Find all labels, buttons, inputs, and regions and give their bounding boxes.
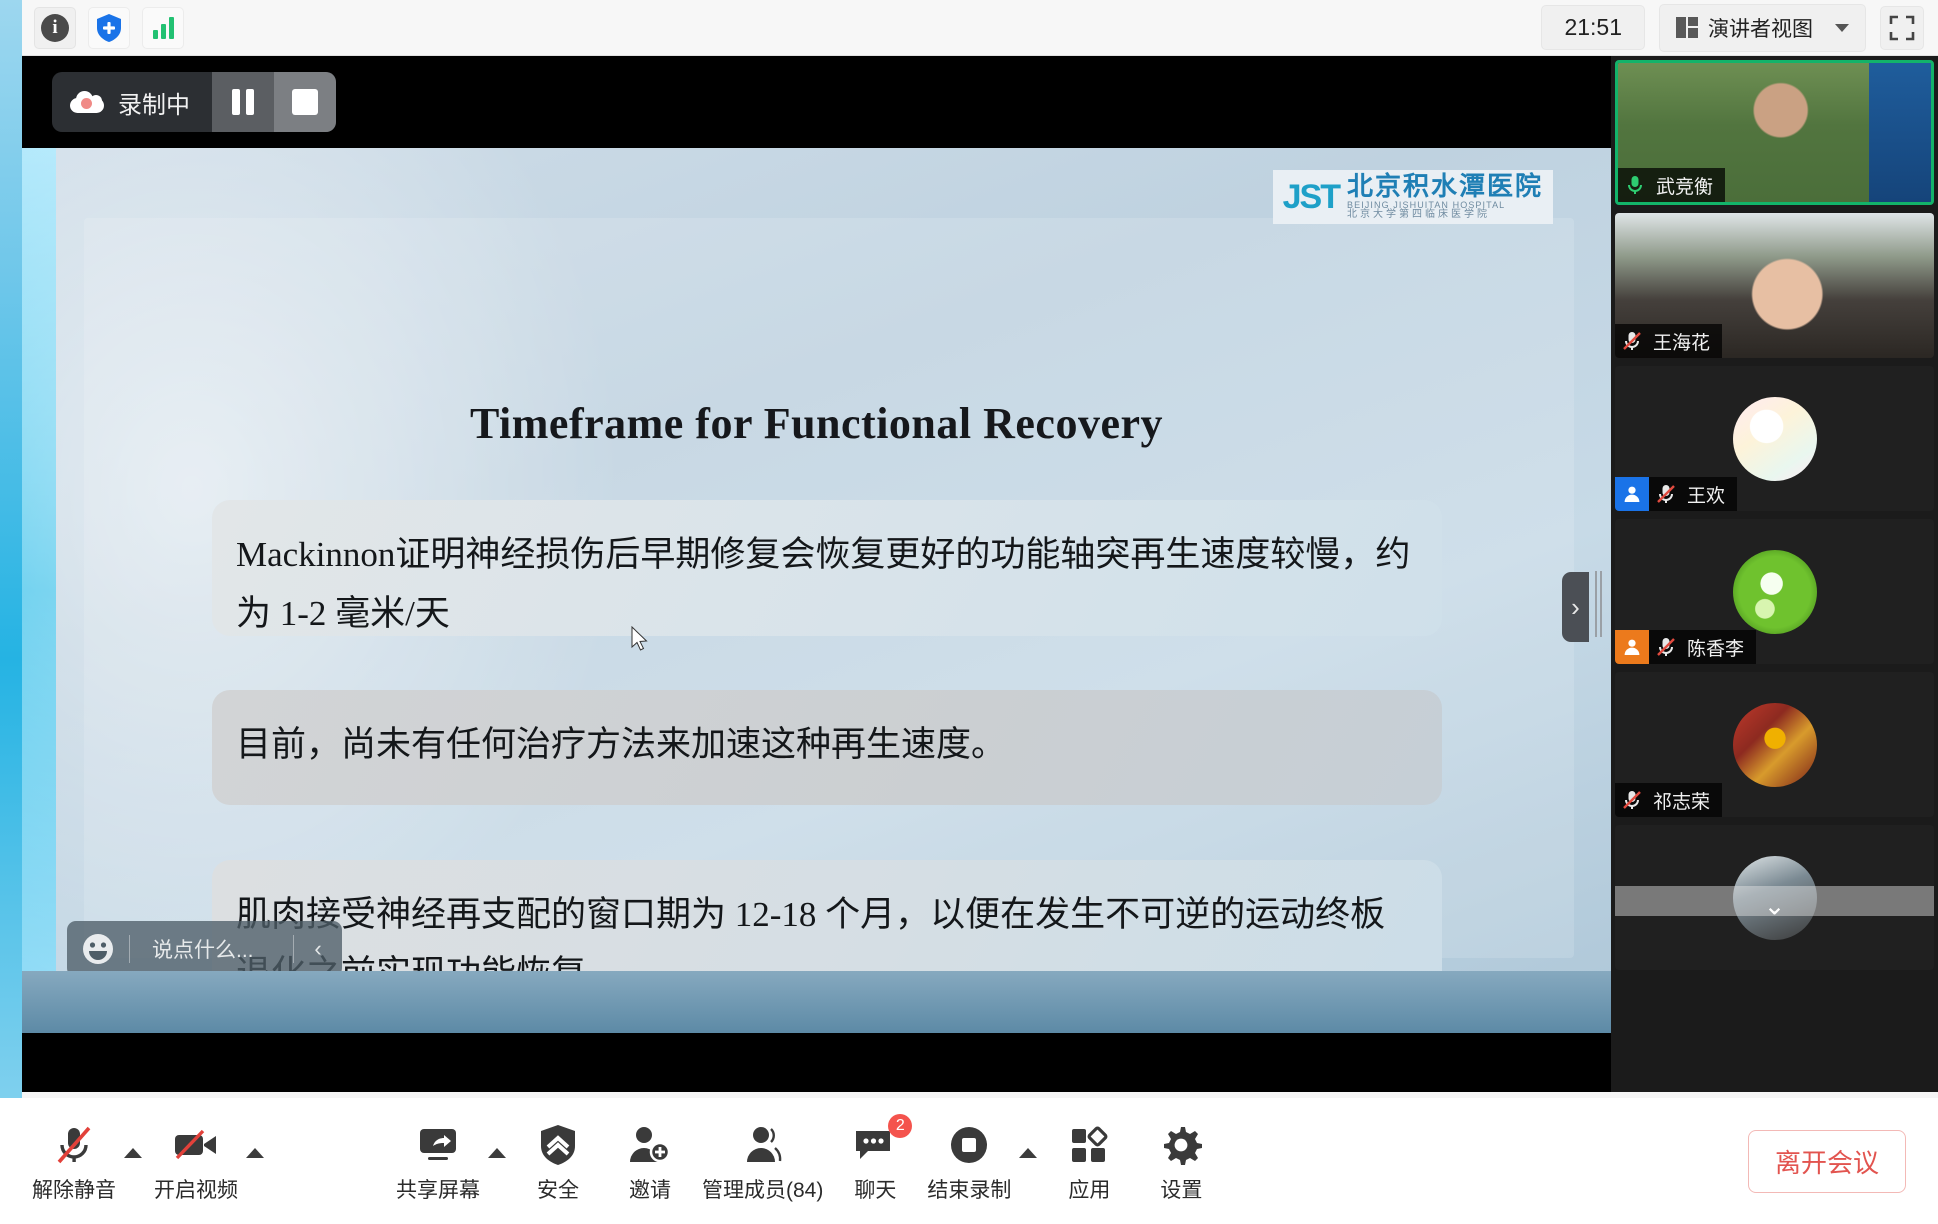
stop-recording-label: 结束录制 [927, 1174, 1011, 1204]
security-shield-button[interactable] [88, 7, 130, 49]
apps-button[interactable]: 应用 [1043, 1118, 1135, 1204]
mic-muted-icon [1649, 636, 1683, 658]
shared-screen-stage: 录制中 结束录制 JST 北京积水潭医院 BEIJING JISHUITAN H… [22, 56, 1611, 1092]
chat-icon: 2 [852, 1118, 898, 1172]
participant-tile-partial[interactable]: ⌄ [1615, 825, 1934, 970]
network-bars-icon [153, 17, 174, 39]
network-quality-button[interactable] [142, 7, 184, 49]
participant-nameplate: 陈香李 [1615, 630, 1756, 664]
stage-letterbox-bottom [22, 1033, 1611, 1092]
participant-tile[interactable]: 陈香李 [1615, 519, 1934, 664]
fullscreen-icon [1889, 15, 1915, 41]
people-icon [740, 1118, 786, 1172]
slide-textbox-2: 目前，尚未有任何治疗方法来加速这种再生速度。 [212, 690, 1442, 805]
security-label: 安全 [537, 1174, 579, 1204]
comment-bar[interactable]: 说点什么... ‹ [67, 921, 342, 977]
view-selector-label: 演讲者视图 [1708, 13, 1813, 43]
start-video-button[interactable]: 开启视频 [148, 1118, 244, 1204]
info-button[interactable]: i [34, 7, 76, 49]
slide-textbox-1-text: Mackinnon证明神经损伤后早期修复会恢复更好的功能轴突再生速度较慢，约为 … [236, 526, 1418, 644]
participant-tile[interactable]: 祁志荣 [1615, 672, 1934, 817]
scroll-down-icon[interactable]: ⌄ [1615, 891, 1934, 922]
participant-nameplate: 武竞衡 [1618, 168, 1725, 202]
slide-bottom-band [22, 971, 1611, 1033]
video-options-chevron-icon[interactable] [246, 1148, 264, 1158]
participant-nameplate: 王海花 [1615, 324, 1722, 358]
logo-mark: JST [1283, 178, 1339, 217]
manage-members-button[interactable]: 管理成员(84) [696, 1118, 829, 1204]
comment-collapse-icon[interactable]: ‹ [294, 936, 342, 962]
participant-name: 王海花 [1649, 328, 1710, 355]
participant-tile[interactable]: 武竞衡 [1615, 60, 1934, 205]
person-add-icon [627, 1118, 673, 1172]
participant-name: 陈香李 [1683, 634, 1744, 661]
invite-label: 邀请 [629, 1174, 671, 1204]
audio-options-chevron-icon[interactable] [124, 1148, 142, 1158]
recording-status: 录制中 [52, 85, 212, 120]
hospital-logo: JST 北京积水潭医院 BEIJING JISHUITAN HOSPITAL 北… [1273, 170, 1553, 224]
logo-cn-name: 北京积水潭医院 [1347, 173, 1543, 200]
avatar [1733, 397, 1817, 481]
share-screen-icon [415, 1118, 461, 1172]
chat-unread-badge: 2 [888, 1114, 912, 1138]
start-video-label: 开启视频 [154, 1174, 238, 1204]
participant-video-panel[interactable]: 武竞衡 王海花 [1611, 56, 1938, 1092]
chat-label: 聊天 [854, 1174, 896, 1204]
mic-unmuted-icon [1618, 174, 1652, 196]
security-button[interactable]: 安全 [512, 1118, 604, 1204]
apps-grid-icon [1067, 1118, 1111, 1172]
shield-plus-icon [95, 13, 123, 43]
mic-muted-icon [1649, 483, 1683, 505]
presentation-slide: JST 北京积水潭医院 BEIJING JISHUITAN HOSPITAL 北… [22, 148, 1611, 1033]
comment-input[interactable]: 说点什么... [130, 934, 293, 964]
mic-muted-icon [1615, 330, 1649, 352]
gear-icon [1159, 1118, 1203, 1172]
meeting-window: i 21:51 演 [0, 0, 1938, 1224]
camera-off-icon [171, 1118, 221, 1172]
mic-muted-icon [51, 1118, 97, 1172]
participant-name: 祁志荣 [1649, 787, 1710, 814]
settings-button[interactable]: 设置 [1135, 1118, 1227, 1204]
recording-status-label: 录制中 [118, 85, 190, 120]
invite-button[interactable]: 邀请 [604, 1118, 696, 1204]
meeting-toolbar: 解除静音 开启视频 共享屏幕 [0, 1098, 1938, 1224]
pause-recording-button[interactable] [212, 72, 274, 132]
clock: 21:51 [1541, 5, 1645, 50]
info-icon: i [41, 14, 69, 42]
fullscreen-button[interactable] [1880, 6, 1924, 50]
recording-options-chevron-icon[interactable] [1019, 1148, 1037, 1158]
left-edge-strip [0, 0, 22, 1098]
top-bar-right: 21:51 演讲者视图 [1541, 4, 1938, 52]
slide-textbox-2-text: 目前，尚未有任何治疗方法来加速这种再生速度。 [236, 716, 1418, 775]
participant-nameplate: 祁志荣 [1615, 783, 1722, 817]
stop-recording-bar-button[interactable] [274, 72, 336, 132]
slide-title: Timeframe for Functional Recovery [22, 398, 1611, 449]
top-bar: i 21:51 演 [22, 0, 1938, 56]
unmute-label: 解除静音 [32, 1174, 116, 1204]
cohost-badge-icon [1615, 630, 1649, 664]
avatar [1733, 703, 1817, 787]
shield-icon [537, 1118, 579, 1172]
participant-nameplate: 王欢 [1615, 477, 1737, 511]
mic-muted-icon [1615, 789, 1649, 811]
participant-name: 武竞衡 [1652, 172, 1713, 199]
settings-label: 设置 [1160, 1174, 1202, 1204]
share-screen-label: 共享屏幕 [396, 1174, 480, 1204]
panel-resize-handle[interactable] [1593, 556, 1603, 652]
apps-label: 应用 [1068, 1174, 1110, 1204]
share-screen-button[interactable]: 共享屏幕 [390, 1118, 486, 1204]
logo-cn-sub: 北京大学第四临床医学院 [1347, 210, 1543, 221]
share-options-chevron-icon[interactable] [488, 1148, 506, 1158]
manage-members-label: 管理成员(84) [702, 1174, 823, 1204]
emoji-icon[interactable] [67, 932, 129, 966]
recording-bar: 录制中 [52, 72, 336, 132]
participant-tile[interactable]: 王欢 [1615, 366, 1934, 511]
participant-name: 王欢 [1683, 481, 1725, 508]
view-selector[interactable]: 演讲者视图 [1659, 4, 1866, 52]
participant-tile[interactable]: 王海花 [1615, 213, 1934, 358]
cloud-record-icon [70, 91, 104, 113]
stop-recording-button[interactable]: 结束录制 [921, 1118, 1017, 1204]
pause-icon [232, 89, 240, 115]
host-badge-icon [1615, 477, 1649, 511]
stop-icon [292, 89, 318, 115]
recording-bar-zone: 录制中 结束录制 [22, 56, 1611, 148]
chat-button[interactable]: 2 聊天 [829, 1118, 921, 1204]
slide-textbox-1: Mackinnon证明神经损伤后早期修复会恢复更好的功能轴突再生速度较慢，约为 … [212, 500, 1442, 636]
chevron-down-icon [1835, 24, 1849, 32]
unmute-button[interactable]: 解除静音 [26, 1118, 122, 1204]
avatar [1733, 550, 1817, 634]
speaker-view-icon [1676, 17, 1698, 38]
leave-meeting-button[interactable]: 离开会议 [1748, 1130, 1906, 1193]
panel-collapse-button[interactable]: › [1562, 572, 1589, 642]
stop-record-icon [947, 1118, 991, 1172]
